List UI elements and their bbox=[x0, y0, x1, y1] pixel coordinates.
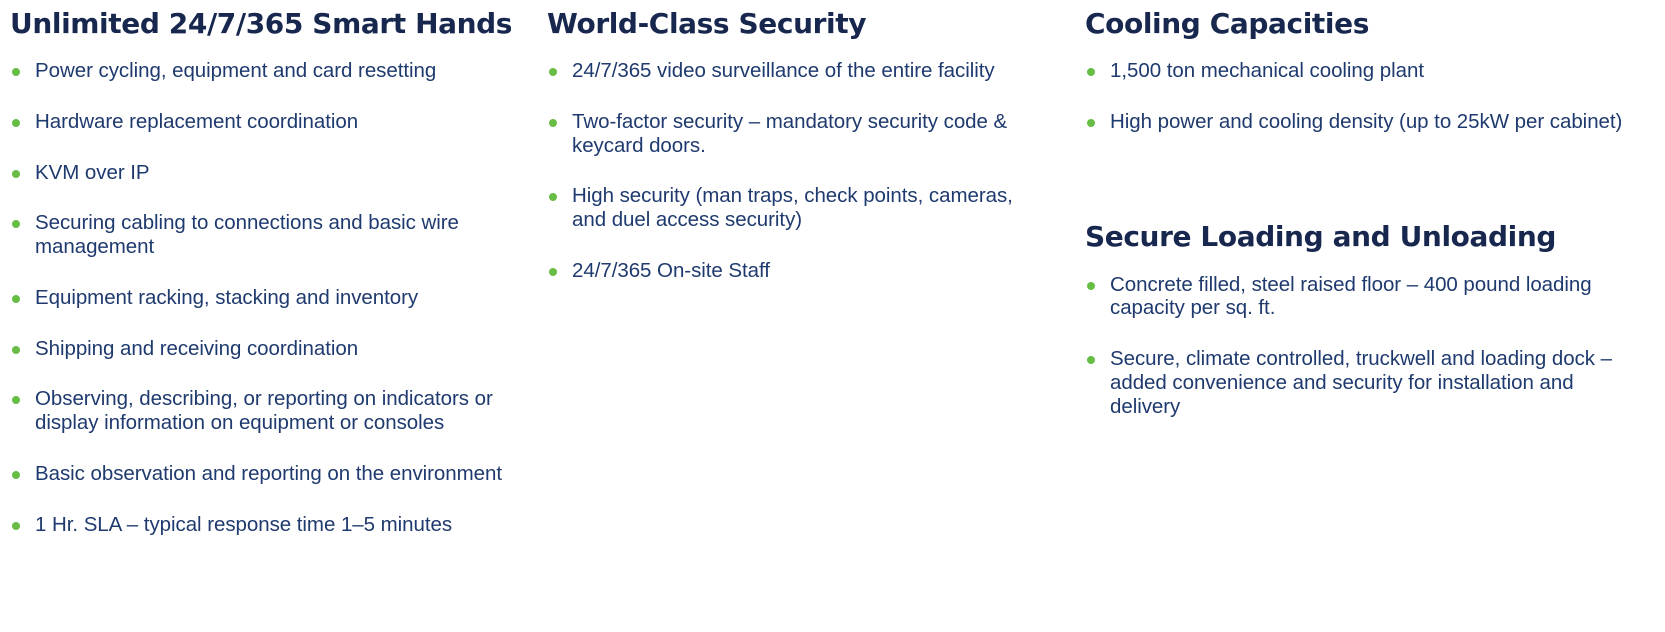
section-heading-secure-loading: Secure Loading and Unloading bbox=[1085, 213, 1625, 251]
column-cooling-and-loading: Cooling Capacities 1,500 ton mechanical … bbox=[1085, 0, 1625, 445]
section-heading-security: World-Class Security bbox=[547, 0, 1047, 38]
list-item: Securing cabling to connections and basi… bbox=[10, 211, 510, 259]
bullet-dot-icon bbox=[549, 268, 557, 276]
bullet-dot-icon bbox=[12, 522, 20, 530]
bullet-dot-icon bbox=[12, 68, 20, 76]
group-cooling-capacities: Cooling Capacities 1,500 ton mechanical … bbox=[1085, 0, 1625, 134]
list-item: 24/7/365 video surveillance of the entir… bbox=[547, 59, 1047, 83]
bullet-list-smart-hands: Power cycling, equipment and card resett… bbox=[10, 59, 510, 536]
list-item-label: 24/7/365 video surveillance of the entir… bbox=[572, 59, 995, 82]
list-item: High power and cooling density (up to 25… bbox=[1085, 110, 1625, 134]
list-item-label: High power and cooling density (up to 25… bbox=[1110, 110, 1622, 133]
bullet-dot-icon bbox=[549, 119, 557, 127]
list-item: Hardware replacement coordination bbox=[10, 110, 510, 134]
column-smart-hands: Unlimited 24/7/365 Smart Hands Power cyc… bbox=[10, 0, 510, 563]
list-item-label: Equipment racking, stacking and inventor… bbox=[35, 286, 418, 309]
list-item: KVM over IP bbox=[10, 161, 510, 185]
bullet-dot-icon bbox=[549, 68, 557, 76]
list-item-label: Concrete filled, steel raised floor – 40… bbox=[1110, 273, 1592, 320]
list-item: 24/7/365 On-site Staff bbox=[547, 259, 1047, 283]
feature-columns-page: Unlimited 24/7/365 Smart Hands Power cyc… bbox=[0, 0, 1665, 632]
bullet-dot-icon bbox=[1087, 356, 1095, 364]
list-item-label: 1,500 ton mechanical cooling plant bbox=[1110, 59, 1424, 82]
column-security: World-Class Security 24/7/365 video surv… bbox=[547, 0, 1047, 310]
section-heading-cooling-capacities: Cooling Capacities bbox=[1085, 0, 1625, 38]
bullet-dot-icon bbox=[12, 220, 20, 228]
group-security: World-Class Security 24/7/365 video surv… bbox=[547, 0, 1047, 283]
bullet-dot-icon bbox=[1087, 68, 1095, 76]
list-item: High security (man traps, check points, … bbox=[547, 184, 1047, 232]
list-item-label: Power cycling, equipment and card resett… bbox=[35, 59, 436, 82]
list-item-label: Shipping and receiving coordination bbox=[35, 337, 358, 360]
bullet-dot-icon bbox=[12, 295, 20, 303]
list-item-label: Two-factor security – mandatory security… bbox=[572, 110, 1007, 157]
list-item-label: Observing, describing, or reporting on i… bbox=[35, 387, 493, 434]
list-item: Equipment racking, stacking and inventor… bbox=[10, 286, 510, 310]
bullet-list-cooling-capacities: 1,500 ton mechanical cooling plant High … bbox=[1085, 59, 1625, 134]
list-item-label: KVM over IP bbox=[35, 161, 150, 184]
list-item-label: Basic observation and reporting on the e… bbox=[35, 462, 502, 485]
list-item-label: 24/7/365 On-site Staff bbox=[572, 259, 770, 282]
list-item-label: Hardware replacement coordination bbox=[35, 110, 358, 133]
list-item: 1,500 ton mechanical cooling plant bbox=[1085, 59, 1625, 83]
bullet-list-security: 24/7/365 video surveillance of the entir… bbox=[547, 59, 1047, 283]
group-secure-loading: Secure Loading and Unloading Concrete fi… bbox=[1085, 213, 1625, 419]
bullet-dot-icon bbox=[12, 346, 20, 354]
bullet-dot-icon bbox=[12, 396, 20, 404]
bullet-dot-icon bbox=[12, 471, 20, 479]
group-smart-hands: Unlimited 24/7/365 Smart Hands Power cyc… bbox=[10, 0, 510, 536]
list-item: Secure, climate controlled, truckwell an… bbox=[1085, 347, 1625, 418]
section-heading-smart-hands: Unlimited 24/7/365 Smart Hands bbox=[10, 0, 510, 38]
list-item-label: Securing cabling to connections and basi… bbox=[35, 211, 459, 258]
bullet-dot-icon bbox=[1087, 119, 1095, 127]
list-item-label: High security (man traps, check points, … bbox=[572, 184, 1013, 231]
list-item: Concrete filled, steel raised floor – 40… bbox=[1085, 273, 1625, 321]
bullet-dot-icon bbox=[12, 170, 20, 178]
list-item-label: 1 Hr. SLA – typical response time 1–5 mi… bbox=[35, 513, 452, 536]
bullet-dot-icon bbox=[549, 193, 557, 201]
list-item: Two-factor security – mandatory security… bbox=[547, 110, 1047, 158]
list-item-label: Secure, climate controlled, truckwell an… bbox=[1110, 347, 1612, 418]
list-item: Shipping and receiving coordination bbox=[10, 337, 510, 361]
list-item: Power cycling, equipment and card resett… bbox=[10, 59, 510, 83]
list-item: Basic observation and reporting on the e… bbox=[10, 462, 510, 486]
bullet-dot-icon bbox=[12, 119, 20, 127]
bullet-list-secure-loading: Concrete filled, steel raised floor – 40… bbox=[1085, 273, 1625, 419]
list-item: Observing, describing, or reporting on i… bbox=[10, 387, 510, 435]
list-item: 1 Hr. SLA – typical response time 1–5 mi… bbox=[10, 513, 510, 537]
bullet-dot-icon bbox=[1087, 282, 1095, 290]
